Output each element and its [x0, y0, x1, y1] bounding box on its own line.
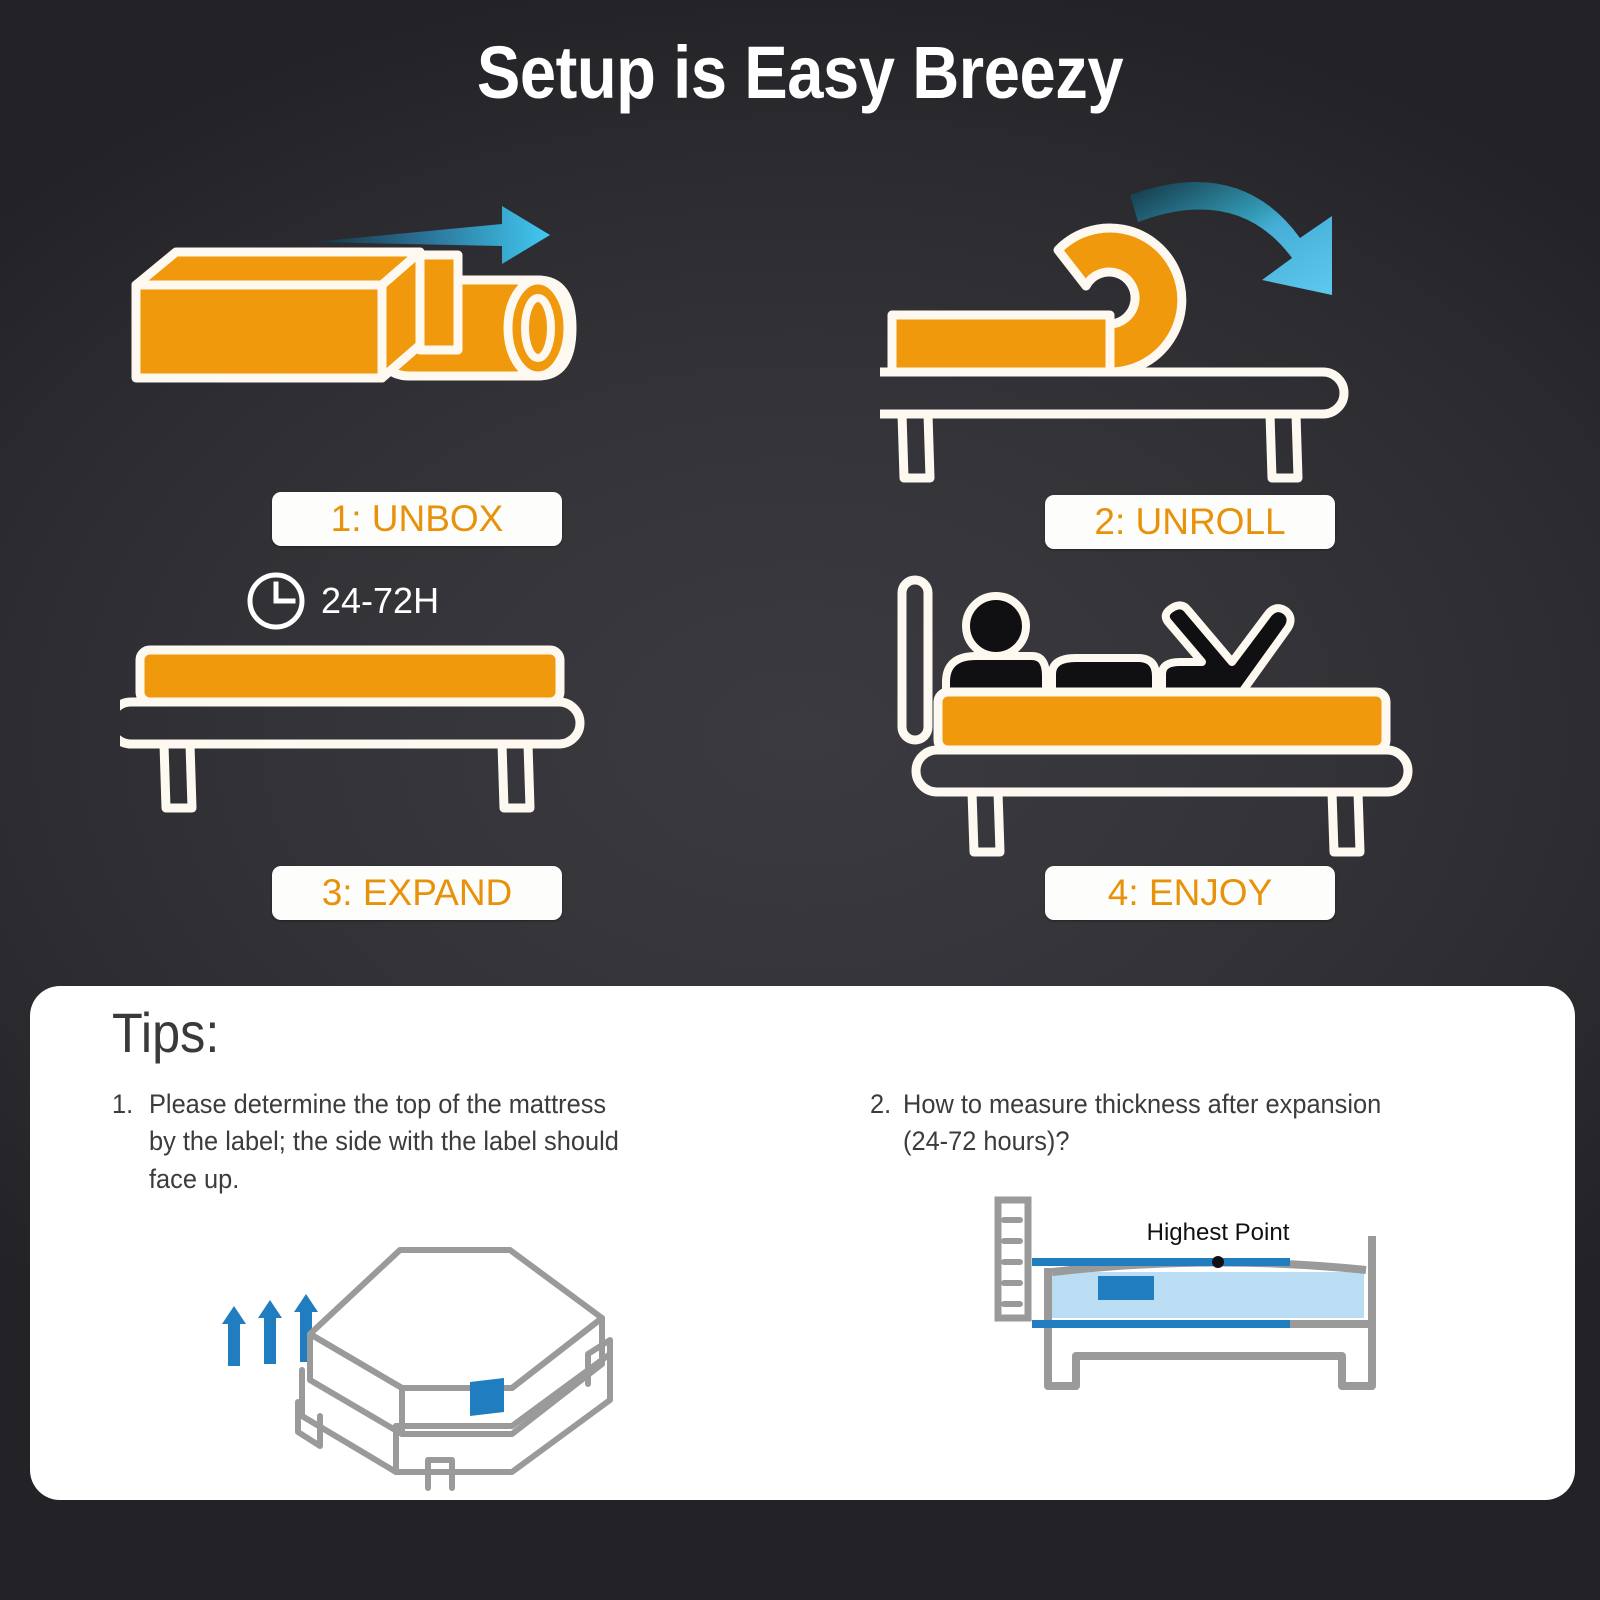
tip-text-1: Please determine the top of the mattress…	[149, 1086, 735, 1198]
unrolling-mattress-on-frame-icon	[880, 160, 1500, 490]
highest-point-dot	[1212, 1256, 1224, 1268]
mattress-label-tag	[470, 1378, 504, 1416]
mattress-label-tag	[1098, 1276, 1154, 1300]
tip-item-1: 1. Please determine the top of the mattr…	[112, 1086, 772, 1198]
bed-frame-shape	[120, 702, 580, 808]
tip-item-2: 2. How to measure thickness after expans…	[870, 1086, 1530, 1161]
bed-frame-shape	[916, 750, 1408, 852]
shipping-box-shape	[136, 252, 458, 378]
mattress-top-face	[310, 1250, 602, 1388]
expanded-mattress-on-frame-icon	[120, 640, 740, 870]
tips-panel: Tips: 1. Please determine the top of the…	[30, 986, 1575, 1500]
ruler-icon	[998, 1200, 1028, 1318]
step-card-enjoy: 4: ENJOY	[880, 570, 1500, 940]
bed-frame-shape	[880, 372, 1344, 478]
tip-number-2: 2.	[870, 1086, 891, 1161]
step-label-unroll[interactable]: 2: UNROLL	[1045, 495, 1335, 549]
step-label-enjoy[interactable]: 4: ENJOY	[1045, 866, 1335, 920]
mattress-flat-shape	[892, 315, 1110, 372]
step-card-unroll: 2: UNROLL	[880, 160, 1500, 570]
mattress-right-side	[402, 1318, 602, 1434]
bed-side-view-with-ruler-icon: Highest Point	[990, 1196, 1430, 1446]
clock-icon	[245, 570, 307, 632]
step-card-expand: 24-72H 3: EXPAND	[120, 570, 740, 940]
isometric-mattress-on-frame-with-label-icon	[212, 1206, 632, 1496]
step-label-unbox[interactable]: 1: UNBOX	[272, 492, 562, 546]
infographic-root: Setup is Easy Breezy	[0, 0, 1600, 1600]
mattress-left-side	[310, 1334, 402, 1434]
expand-timer: 24-72H	[245, 570, 439, 632]
step-card-unbox: 1: UNBOX	[120, 180, 740, 570]
box-with-rolled-mattress-icon	[120, 180, 740, 480]
tip-number-1: 1.	[112, 1086, 133, 1198]
steps-grid: 1: UNBOX	[40, 150, 1560, 940]
frame-right-rail	[396, 1354, 610, 1472]
highest-point-label: Highest Point	[1147, 1219, 1290, 1246]
page-title: Setup is Easy Breezy	[96, 30, 1504, 115]
up-arrows-icon	[222, 1294, 318, 1366]
step-label-expand[interactable]: 3: EXPAND	[272, 866, 562, 920]
sleeping-person-shape	[946, 596, 1291, 692]
headboard-shape	[902, 580, 928, 740]
tips-heading: Tips:	[112, 1000, 219, 1065]
person-sleeping-on-bed-icon	[880, 570, 1500, 860]
mattress-shape	[938, 692, 1386, 750]
expand-timer-label: 24-72H	[321, 580, 439, 622]
tip-text-2: How to measure thickness after expansion…	[903, 1086, 1493, 1161]
expanded-mattress-shape	[140, 650, 560, 702]
